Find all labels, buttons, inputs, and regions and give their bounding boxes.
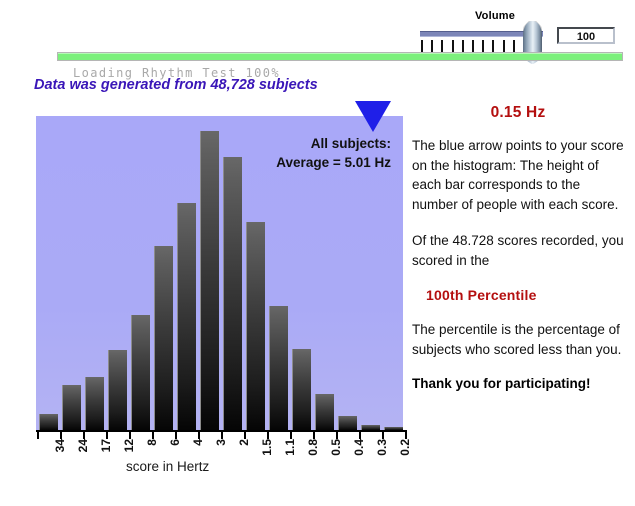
histogram-bar: [131, 315, 150, 430]
histogram-bar: [269, 306, 288, 430]
x-axis-tick-label: 0.5: [329, 439, 343, 475]
x-axis-tick: [152, 430, 154, 439]
score-histogram: All subjects: Average = 5.01 Hz: [36, 116, 403, 430]
annotation-line-2: Average = 5.01 Hz: [276, 153, 391, 172]
spacer: [412, 214, 624, 231]
x-axis-tick: [405, 430, 407, 439]
thank-you-message: Thank you for participating!: [412, 376, 624, 391]
x-axis-tick: [175, 430, 177, 439]
x-axis-tick: [221, 430, 223, 439]
x-axis-tick: [83, 430, 85, 439]
histogram-bar: [223, 157, 242, 430]
x-axis-tick: [336, 430, 338, 439]
x-axis-tick-label: 0.3: [375, 439, 389, 475]
x-axis-ticks: [36, 430, 405, 439]
histogram-bar: [292, 349, 311, 430]
x-axis-tick: [37, 430, 39, 439]
annotation-line-1: All subjects:: [276, 134, 391, 153]
x-axis-tick-label: 0.2: [398, 439, 412, 475]
histogram-bar: [315, 394, 334, 430]
x-axis-tick-label: 34: [53, 439, 67, 475]
x-axis-tick: [313, 430, 315, 439]
spacer: [412, 270, 624, 287]
histogram-bar: [154, 246, 173, 430]
x-axis-tick-label: 2: [237, 439, 251, 475]
histogram-bar: [39, 414, 58, 430]
spacer: [412, 303, 624, 320]
subjects-count-heading: Data was generated from 48,728 subjects: [34, 77, 318, 93]
score-marker-arrow-icon: [355, 101, 391, 132]
percentile-explanation-paragraph: The percentile is the percentage of subj…: [412, 320, 624, 359]
spacer: [412, 359, 624, 376]
histogram-annotation: All subjects: Average = 5.01 Hz: [276, 134, 391, 172]
volume-label: Volume: [450, 10, 540, 22]
loading-progress-fill: [58, 53, 622, 60]
histogram-bar: [177, 203, 196, 430]
loading-progress-bar: [57, 52, 623, 61]
x-axis-tick-label: 17: [99, 439, 113, 475]
results-side-panel: 0.15 Hz The blue arrow points to your sc…: [412, 104, 624, 391]
x-axis-tick-label: 0.4: [352, 439, 366, 475]
x-axis-tick-labels: 34241712864321.51.10.80.50.40.30.2: [36, 439, 405, 475]
x-axis-tick: [382, 430, 384, 439]
histogram-bar: [62, 385, 81, 430]
histogram-bar: [85, 377, 104, 430]
x-axis-tick: [267, 430, 269, 439]
scores-recorded-paragraph: Of the 48.728 scores recorded, you score…: [412, 231, 624, 270]
x-axis-tick-label: 1.5: [260, 439, 274, 475]
x-axis-tick-label: 0.8: [306, 439, 320, 475]
x-axis-tick: [359, 430, 361, 439]
histogram-bar: [246, 222, 265, 430]
x-axis-tick-label: 1.1: [283, 439, 297, 475]
histogram-bar: [200, 131, 219, 431]
percentile-value: 100th Percentile: [426, 287, 624, 303]
x-axis-tick: [129, 430, 131, 439]
x-axis-tick: [106, 430, 108, 439]
arrow-explanation-paragraph: The blue arrow points to your score on t…: [412, 136, 624, 214]
x-axis-tick: [290, 430, 292, 439]
volume-control-panel: Volume 100: [420, 10, 630, 58]
x-axis-tick: [60, 430, 62, 439]
volume-value-input[interactable]: 100: [557, 27, 615, 44]
histogram-bar: [338, 416, 357, 430]
x-axis-tick: [198, 430, 200, 439]
x-axis-tick-label: 24: [76, 439, 90, 475]
user-score-value: 0.15 Hz: [412, 104, 624, 122]
x-axis-tick: [244, 430, 246, 439]
histogram-bar: [108, 350, 127, 430]
x-axis-title: score in Hertz: [126, 459, 209, 474]
x-axis-tick-label: 3: [214, 439, 228, 475]
